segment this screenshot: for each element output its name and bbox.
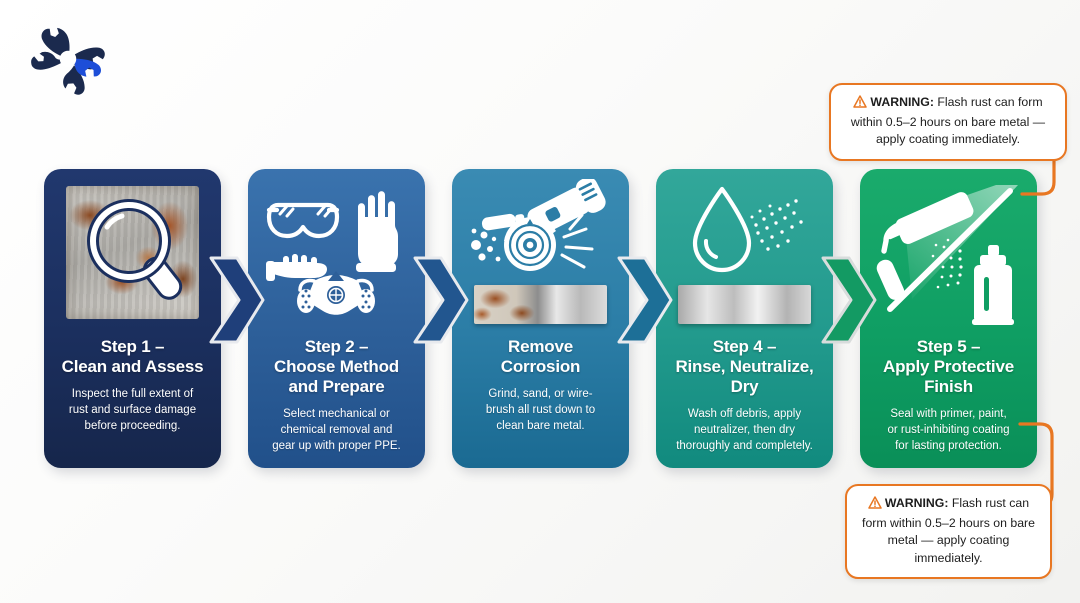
step-4-text: Step 4 – Rinse, Neutralize, Dry Wash off… — [656, 337, 833, 455]
step-4-art — [656, 169, 833, 337]
step-card-1[interactable]: Step 1 – Clean and Assess Inspect the fu… — [44, 169, 221, 468]
chevron-3-4-icon — [613, 252, 675, 348]
step-1-title: Step 1 – Clean and Assess — [52, 337, 213, 377]
chevron-1-2-icon — [205, 252, 267, 348]
step-5-description: Seal with primer, paint, or rust-inhibit… — [868, 406, 1029, 455]
warning-triangle-icon — [868, 496, 882, 515]
step-card-5[interactable]: Step 5 – Apply Protective Finish Seal wi… — [860, 169, 1037, 468]
step-card-4[interactable]: Step 4 – Rinse, Neutralize, Dry Wash off… — [656, 169, 833, 468]
step-2-art — [248, 169, 425, 337]
step-5-text: Step 5 – Apply Protective Finish Seal wi… — [860, 337, 1037, 455]
chevron-2-3-icon — [409, 252, 471, 348]
warning-triangle-icon — [853, 95, 867, 114]
magnifier-icon — [44, 169, 221, 337]
step-3-description: Grind, sand, or wire- brush all rust dow… — [460, 386, 621, 435]
warning-bottom-label: WARNING: — [885, 496, 949, 510]
paint-roller-spray-can-icon — [860, 169, 1037, 337]
step-5-title: Step 5 – Apply Protective Finish — [868, 337, 1029, 397]
step-4-title: Step 4 – Rinse, Neutralize, Dry — [664, 337, 825, 397]
step-2-description: Select mechanical or chemical removal an… — [256, 406, 417, 455]
clean-metal-strip — [678, 285, 811, 324]
warning-callout-top[interactable]: WARNING: Flash rust can form within 0.5–… — [829, 83, 1067, 161]
chevron-4-5-icon — [817, 252, 879, 348]
step-1-text: Step 1 – Clean and Assess Inspect the fu… — [44, 337, 221, 435]
rust-to-bare-metal-strip — [474, 285, 607, 324]
warning-callout-bottom[interactable]: WARNING: Flash rust can form within 0.5–… — [845, 484, 1052, 579]
step-card-2[interactable]: Step 2 – Choose Method and Prepare Selec… — [248, 169, 425, 468]
step-3-title: Remove Corrosion — [460, 337, 621, 377]
step-4-description: Wash off debris, apply neutralizer, then… — [664, 406, 825, 455]
warning-top-label: WARNING: — [870, 95, 934, 109]
step-1-art — [44, 169, 221, 337]
step-3-art — [452, 169, 629, 337]
step-2-title: Step 2 – Choose Method and Prepare — [256, 337, 417, 397]
step-1-description: Inspect the full extent of rust and surf… — [52, 386, 213, 435]
step-3-text: Remove Corrosion Grind, sand, or wire- b… — [452, 337, 629, 435]
ppe-goggles-gloves-respirator-icon — [248, 169, 425, 337]
step-2-text: Step 2 – Choose Method and Prepare Selec… — [248, 337, 425, 455]
step-5-art — [860, 169, 1037, 337]
step-card-3[interactable]: Remove Corrosion Grind, sand, or wire- b… — [452, 169, 629, 468]
